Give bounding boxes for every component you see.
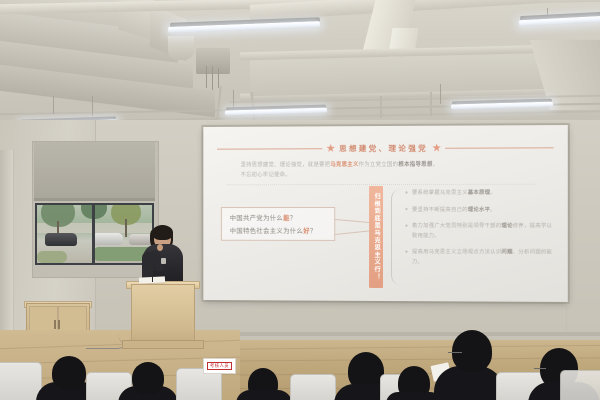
chair[interactable] <box>290 374 336 400</box>
slide-header: 思想建党、理论强党 <box>217 140 554 155</box>
chair[interactable] <box>0 362 42 400</box>
list-item: 提高用马克思主义立场观点方法认识问题、分析问题的能力。 <box>405 248 554 268</box>
b3-pre: 着力加强广大党员特别是领导干部的 <box>412 223 501 229</box>
q1-pre: 中国共产党为什么 <box>230 215 283 222</box>
blind-bottom-bar[interactable] <box>34 198 155 201</box>
bullet-diamond-icon <box>405 224 408 227</box>
speaker-hand <box>157 244 163 251</box>
list-item: 要坚持不断提高自己的理论水平。 <box>405 205 554 215</box>
bullet-diamond-icon <box>405 208 408 211</box>
wall-column <box>0 150 13 360</box>
lead-part-3: 作为立党立国的 <box>359 162 399 168</box>
lead-part-2: 马克思主义 <box>330 162 358 168</box>
projection-screen[interactable]: 思想建党、理论强党 坚持思想建党、理论强党，就是要把马克思主义作为立党立国的根本… <box>203 125 567 302</box>
audience-shoulders <box>236 390 292 400</box>
bullet-list: 要系统掌握马克思主义基本原理。 要坚持不断提高自己的理论水平。 着力加强广大党员… <box>405 189 554 275</box>
window-blind[interactable] <box>34 142 155 200</box>
lead-part-4: 根本指导思想 <box>398 162 432 168</box>
b2-em: 理论水平 <box>468 206 490 212</box>
connector-line-upper <box>335 219 369 223</box>
chair-sign-label: 考核人员 <box>207 362 232 370</box>
bullet-text: 提高用马克思主义立场观点方法认识问题、分析问题的能力。 <box>412 248 554 268</box>
audience-head <box>132 362 164 394</box>
slide-lead-paragraph: 坚持思想建党、理论强党，就是要把马克思主义作为立党立国的根本指导思想，不忘初心牢… <box>241 159 544 180</box>
bullet-text: 要坚持不断提高自己的理论水平。 <box>412 205 496 215</box>
microphone-stem <box>152 272 153 282</box>
q2-emphasis: 好 <box>303 228 310 235</box>
wall-seam-2 <box>13 150 14 350</box>
lead-part-5: ， <box>433 162 439 168</box>
chair-sign: 考核人员 <box>203 358 236 374</box>
b1-pre: 要系统掌握马克思主义 <box>412 190 468 196</box>
b2-post: 。 <box>490 206 496 212</box>
audience-head <box>452 330 492 372</box>
eyeglasses <box>448 352 462 353</box>
speaker-hair <box>152 225 173 240</box>
window-mullion <box>92 203 95 265</box>
connector-line-lower <box>335 230 369 234</box>
vertical-banner: 归根到底是马克思主义行！ <box>369 186 383 288</box>
podium <box>131 284 195 348</box>
list-item: 着力加强广大党员特别是领导干部的理论修养，提高学以致用能力。 <box>405 222 554 241</box>
slide-title: 思想建党、理论强党 <box>339 142 428 153</box>
b4-em: 问题 <box>501 249 512 255</box>
bullet-diamond-icon <box>405 250 408 253</box>
eyeglasses <box>534 368 546 369</box>
list-item: 要系统掌握马克思主义基本原理。 <box>405 189 554 199</box>
microphone-head <box>149 268 154 272</box>
lecture-hall-photo: 思想建党、理论强党 坚持思想建党、理论强党，就是要把马克思主义作为立党立国的根本… <box>0 0 600 400</box>
bullet-text: 着力加强广大党员特别是领导干部的理论修养，提高学以致用能力。 <box>412 222 554 241</box>
vertical-banner-text: 归根到底是马克思主义行！ <box>373 193 379 281</box>
lead-part-1: 坚持思想建党、理论强党，就是要把 <box>241 162 331 168</box>
q2-post: ？ <box>310 228 317 235</box>
curly-brace <box>391 189 402 285</box>
b3-em: 理论 <box>501 223 512 229</box>
star-icon <box>326 144 335 153</box>
header-rule-right <box>445 147 553 148</box>
presentation-slide: 思想建党、理论强党 坚持思想建党、理论强党，就是要把马克思主义作为立党立国的根本… <box>211 132 559 294</box>
b1-em: 基本原理 <box>468 190 490 196</box>
header-rule-left <box>217 148 322 149</box>
q2-pre: 中国特色社会主义为什么 <box>230 228 304 235</box>
b1-post: 。 <box>490 190 496 196</box>
b2-pre: 要坚持不断提高自己的 <box>412 206 468 212</box>
bullet-text: 要系统掌握马克思主义基本原理。 <box>412 189 496 199</box>
question-line-1: 中国共产党为什么能？ <box>230 213 335 222</box>
audience-head <box>52 356 86 390</box>
question-line-2: 中国特色社会主义为什么好？ <box>230 226 335 235</box>
speaker-badge <box>161 258 166 264</box>
star-icon-right <box>432 143 441 152</box>
ceiling <box>0 0 600 132</box>
lead-part-6: 不忘初心牢记使命。 <box>241 172 291 178</box>
q1-post: ？ <box>290 215 297 222</box>
question-box: 中国共产党为什么能？ 中国特色社会主义为什么好？ <box>221 207 335 241</box>
bullet-diamond-icon <box>405 191 408 194</box>
podium-base <box>122 340 204 349</box>
chair[interactable] <box>560 370 600 400</box>
b4-pre: 提高用马克思主义立场观点方法认识 <box>412 249 501 255</box>
